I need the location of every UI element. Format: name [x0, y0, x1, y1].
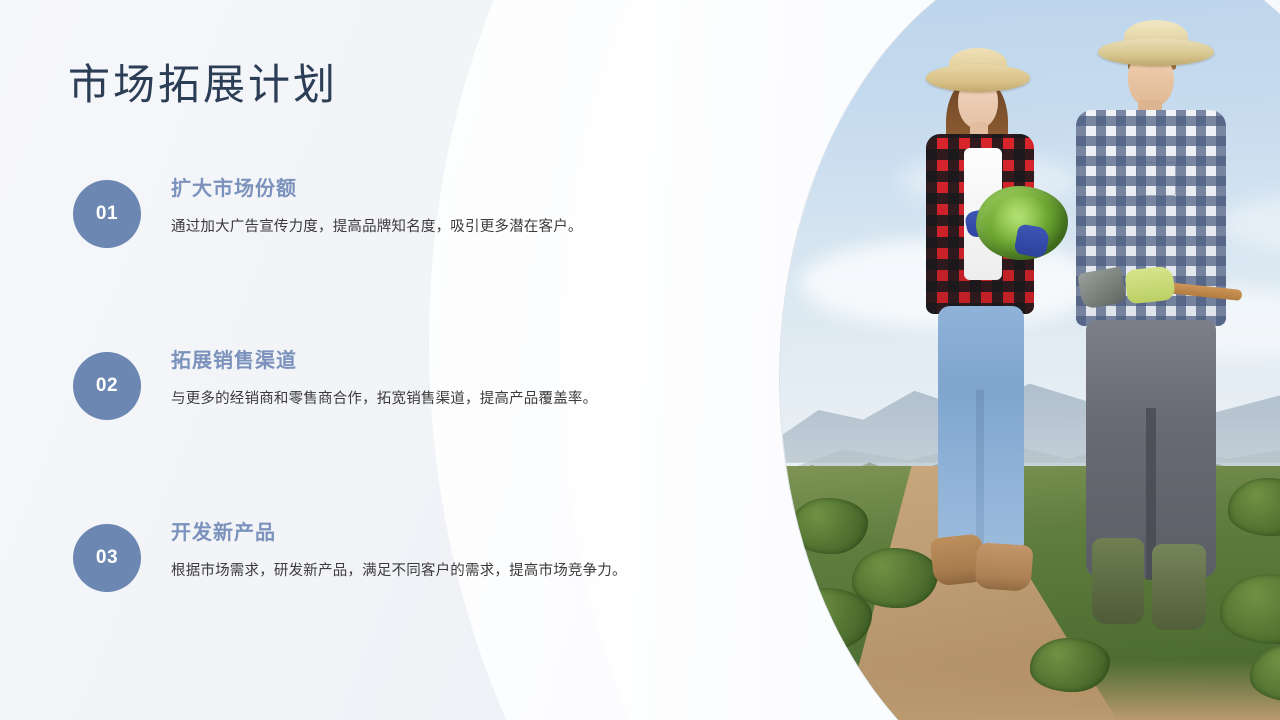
item-body: 扩大市场份额 通过加大广告宣传力度，提高品牌知名度，吸引更多潜在客户。 [171, 172, 641, 242]
item-number-badge-03: 03 [73, 524, 141, 592]
cabbage-leaf [780, 588, 872, 650]
page-title: 市场拓展计划 [68, 60, 338, 110]
item-description: 与更多的经销商和零售商合作，拓宽销售渠道，提高产品覆盖率。 [171, 385, 641, 414]
woman-leg-seam [976, 390, 984, 558]
item-heading: 拓展销售渠道 [171, 344, 641, 373]
item-heading: 开发新产品 [171, 516, 641, 545]
man-shirt-pocket [1136, 162, 1176, 196]
plan-item-list: 01 扩大市场份额 通过加大广告宣传力度，提高品牌知名度，吸引更多潜在客户。 0… [0, 180, 660, 696]
item-description: 通过加大广告宣传力度，提高品牌知名度，吸引更多潜在客户。 [171, 213, 641, 242]
cabbage-leaf [1030, 638, 1110, 692]
cabbage-leaf [852, 548, 938, 608]
slide-canvas: 市场拓展计划 01 扩大市场份额 通过加大广告宣传力度，提高品牌知名度，吸引更多… [0, 0, 1280, 720]
woman-straw-hat-brim [926, 64, 1030, 92]
list-item[interactable]: 02 拓展销售渠道 与更多的经销商和零售商合作，拓宽销售渠道，提高产品覆盖率。 [0, 352, 660, 524]
item-body: 拓展销售渠道 与更多的经销商和零售商合作，拓宽销售渠道，提高产品覆盖率。 [171, 344, 641, 414]
photo-content [780, 0, 1280, 720]
man-rubber-boot-left [1092, 538, 1144, 624]
farmers-photo [780, 0, 1280, 720]
cabbage-leaf [790, 498, 868, 554]
item-description: 根据市场需求，研发新产品，满足不同客户的需求，提高市场竞争力。 [171, 557, 641, 586]
item-number-badge-02: 02 [73, 352, 141, 420]
list-item[interactable]: 01 扩大市场份额 通过加大广告宣传力度，提高品牌知名度，吸引更多潜在客户。 [0, 180, 660, 352]
man-rubber-boot-right [1152, 544, 1206, 630]
item-body: 开发新产品 根据市场需求，研发新产品，满足不同客户的需求，提高市场竞争力。 [171, 516, 641, 586]
list-item[interactable]: 03 开发新产品 根据市场需求，研发新产品，满足不同客户的需求，提高市场竞争力。 [0, 524, 660, 696]
man-green-glove [1124, 266, 1175, 305]
item-heading: 扩大市场份额 [171, 172, 641, 201]
woman-brown-boot-right [974, 542, 1033, 592]
item-number-badge-01: 01 [73, 180, 141, 248]
man-straw-hat-brim [1098, 38, 1214, 66]
